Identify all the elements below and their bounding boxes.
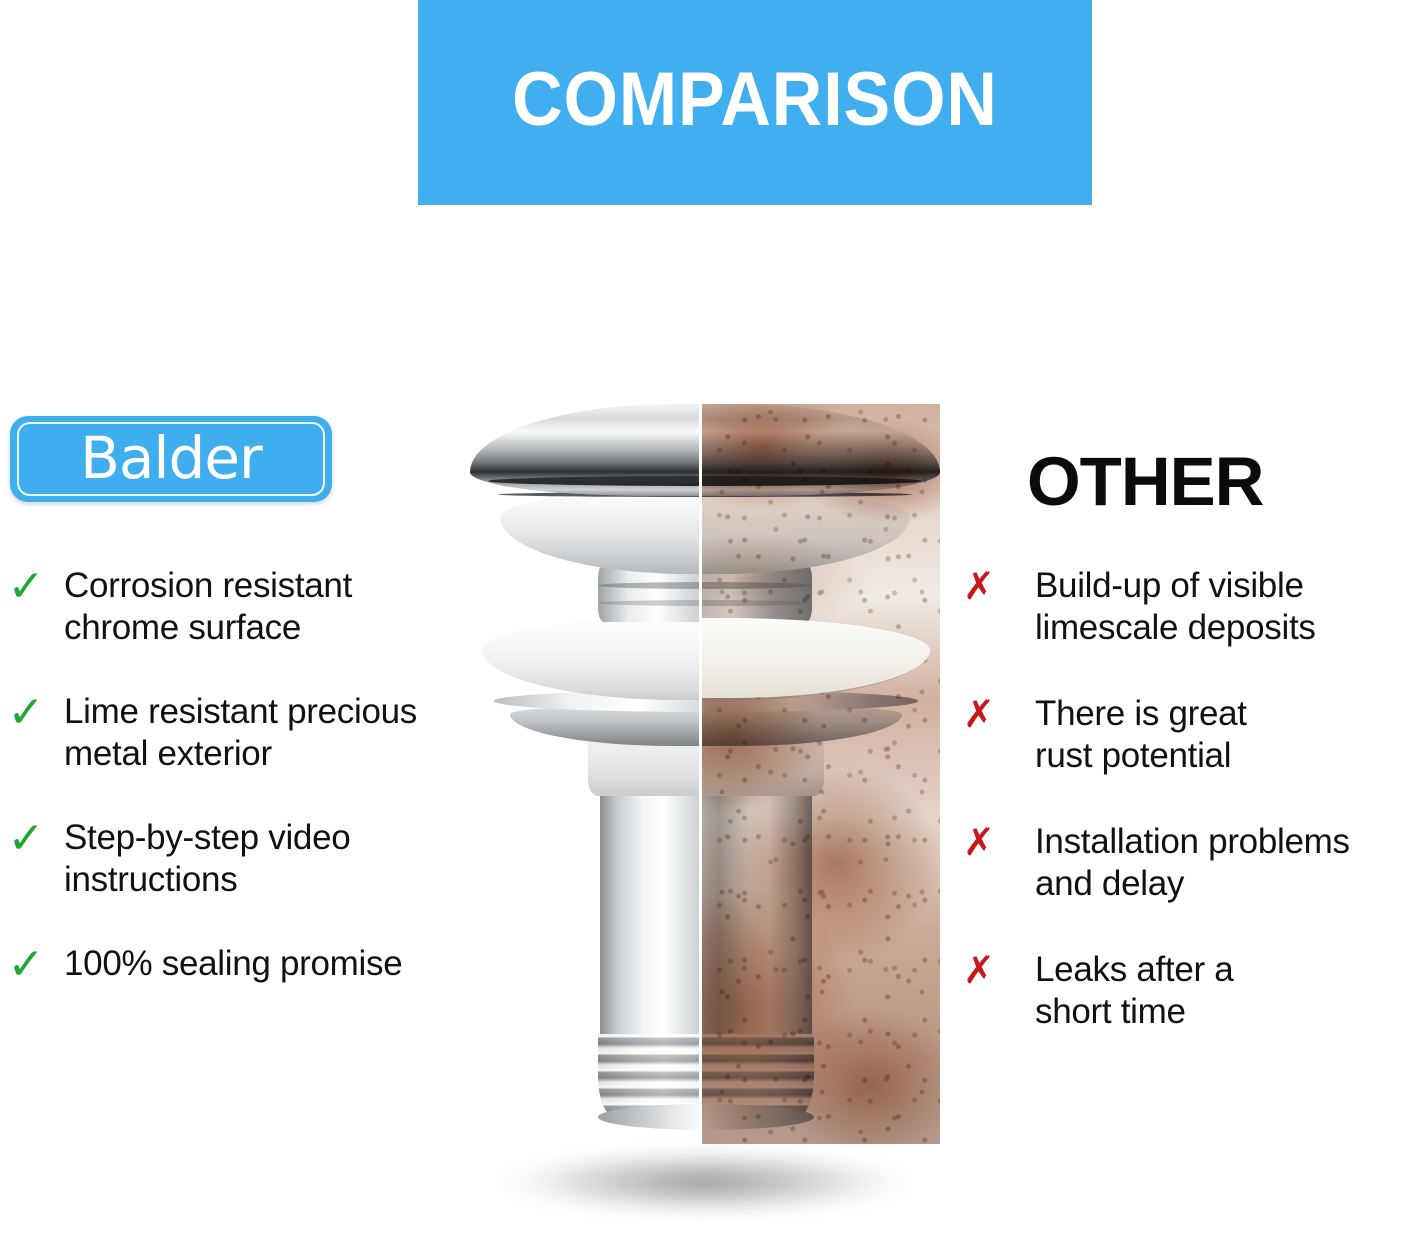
- check-icon: ✓: [0, 691, 52, 735]
- list-item: ✗ Leaks after a short time: [955, 949, 1408, 1033]
- comparison-banner: COMPARISON: [418, 0, 1092, 205]
- brand-logo: Balder: [10, 416, 332, 502]
- product-threads-bottom: [598, 1104, 814, 1130]
- list-item-label: Leaks after a short time: [1021, 949, 1408, 1033]
- cross-icon: ✗: [955, 565, 1021, 609]
- product-split-divider: [699, 404, 702, 1144]
- list-item-label: Build-up of visible limescale deposits: [1021, 565, 1408, 649]
- list-item-label: 100% sealing promise: [52, 943, 500, 985]
- balder-feature-list: ✓ Corrosion resistant chrome surface ✓ L…: [0, 565, 500, 1029]
- list-item-label: Step-by-step video instructions: [52, 817, 500, 901]
- brand-logo-label: Balder: [10, 413, 332, 502]
- cross-icon: ✗: [955, 949, 1021, 993]
- cross-icon: ✗: [955, 693, 1021, 737]
- product-shadow: [455, 1140, 955, 1224]
- list-item: ✓ 100% sealing promise: [0, 943, 500, 987]
- product-neck-groove-2: [598, 600, 812, 606]
- product-gasket: [482, 616, 930, 700]
- list-item: ✗ There is great rust potential: [955, 693, 1408, 777]
- list-item: ✓ Step-by-step video instructions: [0, 817, 500, 901]
- other-heading: OTHER: [1027, 447, 1264, 516]
- product-cap-seam: [488, 476, 922, 486]
- product-cone: [500, 490, 910, 574]
- list-item-label: There is great rust potential: [1021, 693, 1408, 777]
- list-item: ✓ Lime resistant precious metal exterior: [0, 691, 500, 775]
- check-icon: ✓: [0, 565, 52, 609]
- product-neck-groove: [598, 582, 812, 589]
- list-item-label: Corrosion resistant chrome surface: [52, 565, 500, 649]
- product-image-split-drain-stopper: [470, 404, 940, 1104]
- list-item-label: Installation problems and delay: [1021, 821, 1408, 905]
- list-item: ✓ Corrosion resistant chrome surface: [0, 565, 500, 649]
- list-item: ✗ Build-up of visible limescale deposits: [955, 565, 1408, 649]
- list-item-label: Lime resistant precious metal exterior: [52, 691, 500, 775]
- check-icon: ✓: [0, 943, 52, 987]
- page-title: COMPARISON: [512, 62, 998, 138]
- other-feature-list: ✗ Build-up of visible limescale deposits…: [955, 565, 1408, 1077]
- list-item: ✗ Installation problems and delay: [955, 821, 1408, 905]
- cross-icon: ✗: [955, 821, 1021, 865]
- check-icon: ✓: [0, 817, 52, 861]
- product-barrel: [600, 784, 812, 1074]
